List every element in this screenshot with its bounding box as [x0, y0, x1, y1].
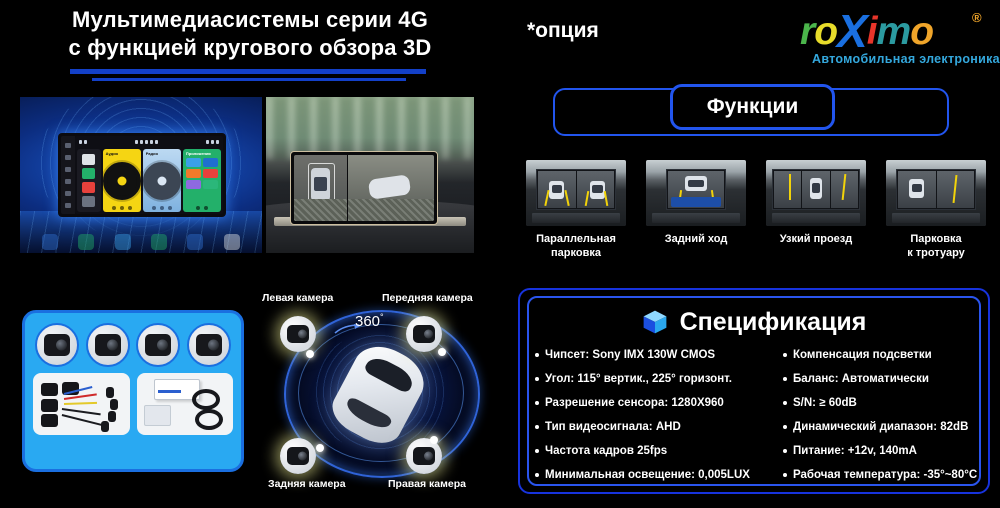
caption-line-1: Задний ход	[636, 232, 756, 246]
camera-right-icon	[187, 323, 231, 367]
caption-line-2: парковка	[516, 246, 636, 260]
spec-item: Разрешение сенсора: 1280X960	[535, 396, 783, 410]
dashboard-car-side	[368, 175, 412, 200]
registered-trademark-icon: ®	[972, 10, 982, 25]
spec-item-text: Частота кадров 25fps	[545, 444, 667, 458]
head-unit-cards: Аудио Радио Приложения	[75, 147, 223, 214]
diagram-label-right: Правая камера	[388, 478, 466, 490]
spec-item-text: Разрешение сенсора: 1280X960	[545, 396, 724, 410]
specification-right-column: Компенсация подсветки Баланс: Автоматиче…	[783, 348, 981, 492]
camera-front-icon	[35, 323, 79, 367]
logo-wordmark: roXimo	[800, 8, 975, 48]
thumb-parallel-parking[interactable]	[526, 160, 626, 226]
spec-item-text: Компенсация подсветки	[793, 348, 932, 362]
logo-letter-r: r	[800, 12, 814, 52]
page-title: Мультимедиасистемы серии 4G с функцией к…	[0, 6, 500, 62]
thumb-caption-narrow-passage: Узкий проезд	[756, 232, 876, 246]
thumb-curb-parking[interactable]	[886, 160, 986, 226]
card-app-rail	[77, 149, 101, 212]
functions-button-label: Функции	[707, 95, 799, 119]
specification-header: Спецификация	[527, 300, 981, 344]
spec-item: Динамический диапазон: 82dB	[783, 420, 981, 434]
head-unit-side-rail	[61, 136, 75, 214]
spec-item-text: Рабочая температура: -35°~80°C	[793, 468, 977, 482]
title-line-1: Мультимедиасистемы серии 4G	[0, 6, 500, 34]
logo-letter-i: i	[867, 12, 877, 52]
logo-letter-o1: o	[814, 12, 837, 52]
diagram-camera-rear	[280, 438, 316, 474]
functions-button[interactable]: Функции	[670, 84, 835, 130]
card-radio: Радио	[143, 149, 181, 212]
card-apps: Приложения	[183, 149, 221, 212]
spec-item-text: Динамический диапазон: 82dB	[793, 420, 968, 434]
specification-lists: Чипсет: Sony IMX 130W CMOS Угол: 115° ве…	[535, 348, 981, 492]
diagram-camera-left	[280, 316, 316, 352]
thumb-caption-parallel-parking: Параллельная парковка	[516, 232, 636, 260]
diagram-label-left: Левая камера	[262, 292, 333, 304]
spec-item-text: Минимальная освещение: 0,005LUX	[545, 468, 750, 482]
spec-item-text: Чипсет: Sony IMX 130W CMOS	[545, 348, 715, 362]
spec-item-text: S/N: ≥ 60dB	[793, 396, 857, 410]
head-unit-statusbar	[75, 136, 223, 147]
dashboard-360-view	[294, 155, 434, 221]
head-unit-screen: Аудио Радио Приложения	[75, 136, 223, 214]
camera-thumbnails-row	[35, 323, 231, 367]
diagram-camera-front	[406, 316, 442, 352]
spec-item: Тип видеосигнала: AHD	[535, 420, 783, 434]
card-audio: Аудио	[103, 149, 141, 212]
title-underline-primary	[70, 69, 426, 74]
spec-item: Минимальная освещение: 0,005LUX	[535, 468, 783, 482]
spec-item: Частота кадров 25fps	[535, 444, 783, 458]
head-unit-reflection-icons	[32, 234, 250, 250]
head-unit-device: Аудио Радио Приложения	[58, 133, 226, 217]
diagram-label-rear: Задняя камера	[268, 478, 346, 490]
spec-item: Рабочая температура: -35°~80°C	[783, 468, 981, 482]
screw-bag-icon	[144, 405, 171, 426]
degrees-label: 360°	[355, 312, 384, 330]
mounting-parts-photo	[137, 373, 234, 435]
spec-item: Питание: +12v, 140mA	[783, 444, 981, 458]
specification-left-column: Чипсет: Sony IMX 130W CMOS Угол: 115° ве…	[535, 348, 783, 492]
camera-left-icon	[136, 323, 180, 367]
kit-accessories-row	[33, 373, 233, 435]
specification-title: Спецификация	[680, 308, 867, 337]
brand-logo: roXimo ® Автомобильная электроника	[800, 8, 990, 70]
slide-root: Мультимедиасистемы серии 4G с функцией к…	[0, 0, 1000, 508]
dashboard-ground-left	[294, 199, 347, 221]
title-line-2: с функцией кругового обзора 3D	[0, 34, 500, 62]
diagram-camera-right	[406, 438, 442, 474]
spec-item: Угол: 115° вертик., 225° горизонт.	[535, 372, 783, 386]
thumb-caption-curb-parking: Парковка к тротуару	[876, 232, 996, 260]
logo-letter-x: X	[837, 11, 867, 51]
caption-line-2: к тротуару	[876, 246, 996, 260]
spec-item-text: Баланс: Автоматически	[793, 372, 929, 386]
dashboard-camera-pane	[348, 155, 434, 221]
logo-tagline: Автомобильная электроника	[812, 52, 1000, 66]
dashboard-car-top	[311, 168, 330, 201]
option-note: *опция	[527, 19, 599, 43]
title-underline-secondary	[92, 78, 406, 81]
caption-line-1: Параллельная	[516, 232, 636, 246]
spec-item-text: Питание: +12v, 140mA	[793, 444, 917, 458]
camera-kit-panel	[22, 310, 244, 472]
dashboard-screen	[290, 151, 438, 225]
head-unit-photo: Аудио Радио Приложения	[20, 97, 262, 253]
dashboard-ground-right	[348, 199, 434, 221]
logo-letter-m: m	[877, 12, 911, 52]
spec-item: Баланс: Автоматически	[783, 372, 981, 386]
caption-line-1: Узкий проезд	[756, 232, 876, 246]
camera-rear-icon	[86, 323, 130, 367]
caption-line-1: Парковка	[876, 232, 996, 246]
spec-item: Компенсация подсветки	[783, 348, 981, 362]
thumb-reverse[interactable]	[646, 160, 746, 226]
spec-item-text: Тип видеосигнала: AHD	[545, 420, 681, 434]
diagram-label-front: Передняя камера	[382, 292, 473, 304]
cube-icon	[642, 309, 668, 335]
spec-item-text: Угол: 115° вертик., 225° горизонт.	[545, 372, 732, 386]
spec-item: Чипсет: Sony IMX 130W CMOS	[535, 348, 783, 362]
dashboard-birdseye-pane	[294, 155, 347, 221]
camera-coverage-diagram: 360° Левая камера Передняя камера Задняя…	[258, 288, 506, 496]
function-thumbnails: Параллельная парковка Задний ход	[518, 160, 990, 272]
spec-item: S/N: ≥ 60dB	[783, 396, 981, 410]
thumb-caption-reverse: Задний ход	[636, 232, 756, 246]
wiring-harness-photo	[33, 373, 130, 435]
thumb-narrow-passage[interactable]	[766, 160, 866, 226]
logo-letter-o2: o	[910, 12, 933, 52]
dashboard-photo	[266, 97, 474, 253]
